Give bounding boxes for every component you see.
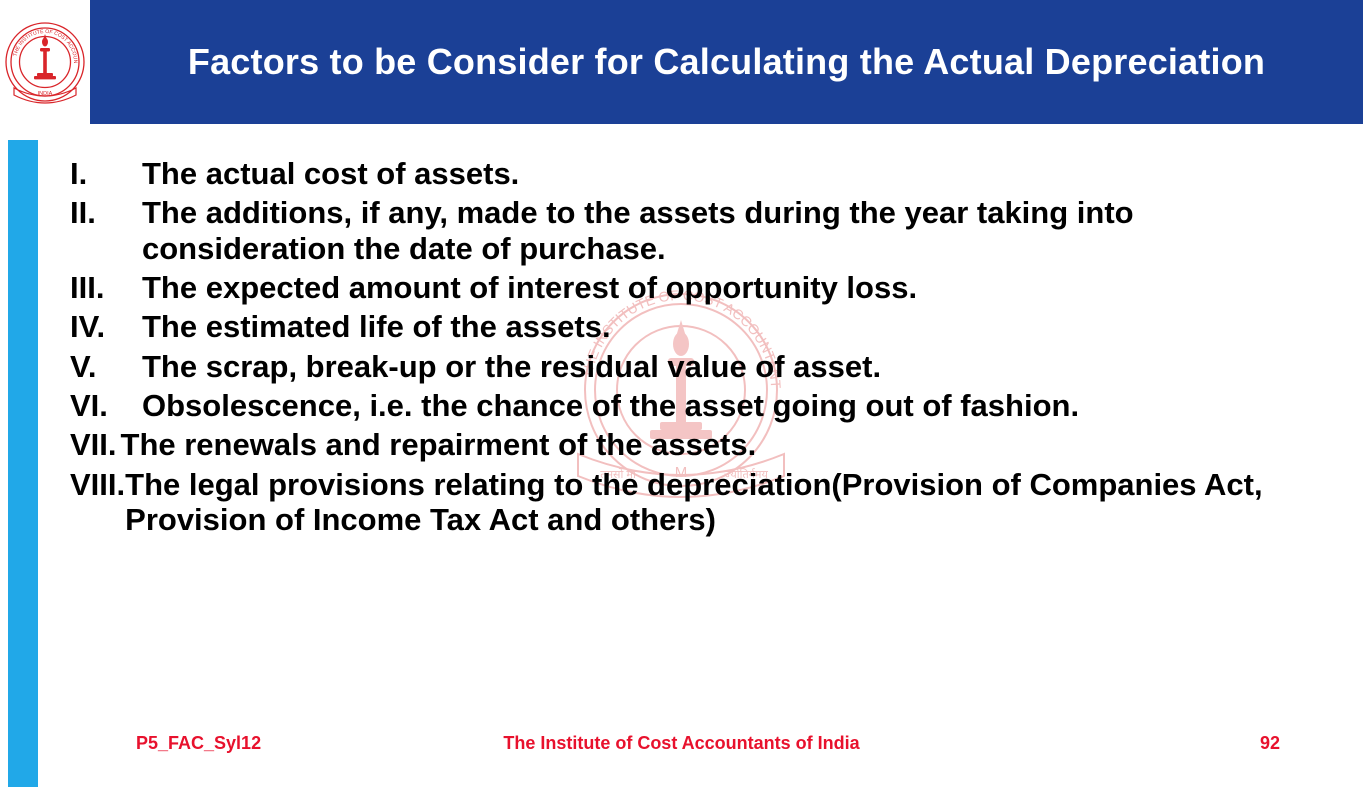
list-item: VII. The renewals and repairment of the … [70, 427, 1330, 462]
footer-page-number: 92 [1260, 733, 1280, 754]
list-item-number: VI. [70, 388, 142, 423]
list-item-text: The scrap, break-up or the residual valu… [142, 349, 1330, 384]
list-item: V. The scrap, break-up or the residual v… [70, 349, 1330, 384]
left-accent-bar [8, 140, 38, 787]
slide-body: I. The actual cost of assets. II. The ad… [70, 156, 1330, 541]
list-item-text: The expected amount of interest of oppor… [142, 270, 1330, 305]
list-item: IV. The estimated life of the assets. [70, 309, 1330, 344]
footer-institute-name: The Institute of Cost Accountants of Ind… [0, 733, 1363, 754]
list-item-text: The additions, if any, made to the asset… [142, 195, 1330, 266]
list-item-number: IV. [70, 309, 142, 344]
list-item: I. The actual cost of assets. [70, 156, 1330, 191]
list-item-number: VII. [70, 427, 117, 462]
list-item: III. The expected amount of interest of … [70, 270, 1330, 305]
institute-logo-container: INDIA THE INSTITUTE OF COST ACCOUNTANTS [0, 0, 90, 130]
list-item-number: III. [70, 270, 142, 305]
institute-seal-logo: INDIA THE INSTITUTE OF COST ACCOUNTANTS [4, 4, 86, 126]
slide-footer: P5_FAC_Syl12 The Institute of Cost Accou… [0, 733, 1363, 773]
list-item-number: II. [70, 195, 142, 230]
list-item: VIII. The legal provisions relating to t… [70, 467, 1330, 538]
list-item-number: VIII. [70, 467, 125, 502]
list-item-text: The actual cost of assets. [142, 156, 1330, 191]
list-item-number: V. [70, 349, 142, 384]
list-item: II. The additions, if any, made to the a… [70, 195, 1330, 266]
list-item-text: The estimated life of the assets. [142, 309, 1330, 344]
slide-header-band: Factors to be Consider for Calculating t… [90, 0, 1363, 124]
list-item-text: The legal provisions relating to the dep… [125, 467, 1330, 538]
list-item-text: The renewals and repairment of the asset… [117, 427, 1330, 462]
list-item-number: I. [70, 156, 142, 191]
svg-text:THE INSTITUTE OF COST ACCOUNTA: THE INSTITUTE OF COST ACCOUNTANTS [4, 4, 78, 64]
page-title: Factors to be Consider for Calculating t… [188, 41, 1265, 83]
svg-text:INDIA: INDIA [38, 91, 53, 97]
list-item-text: Obsolescence, i.e. the chance of the ass… [142, 388, 1330, 423]
list-item: VI. Obsolescence, i.e. the chance of the… [70, 388, 1330, 423]
